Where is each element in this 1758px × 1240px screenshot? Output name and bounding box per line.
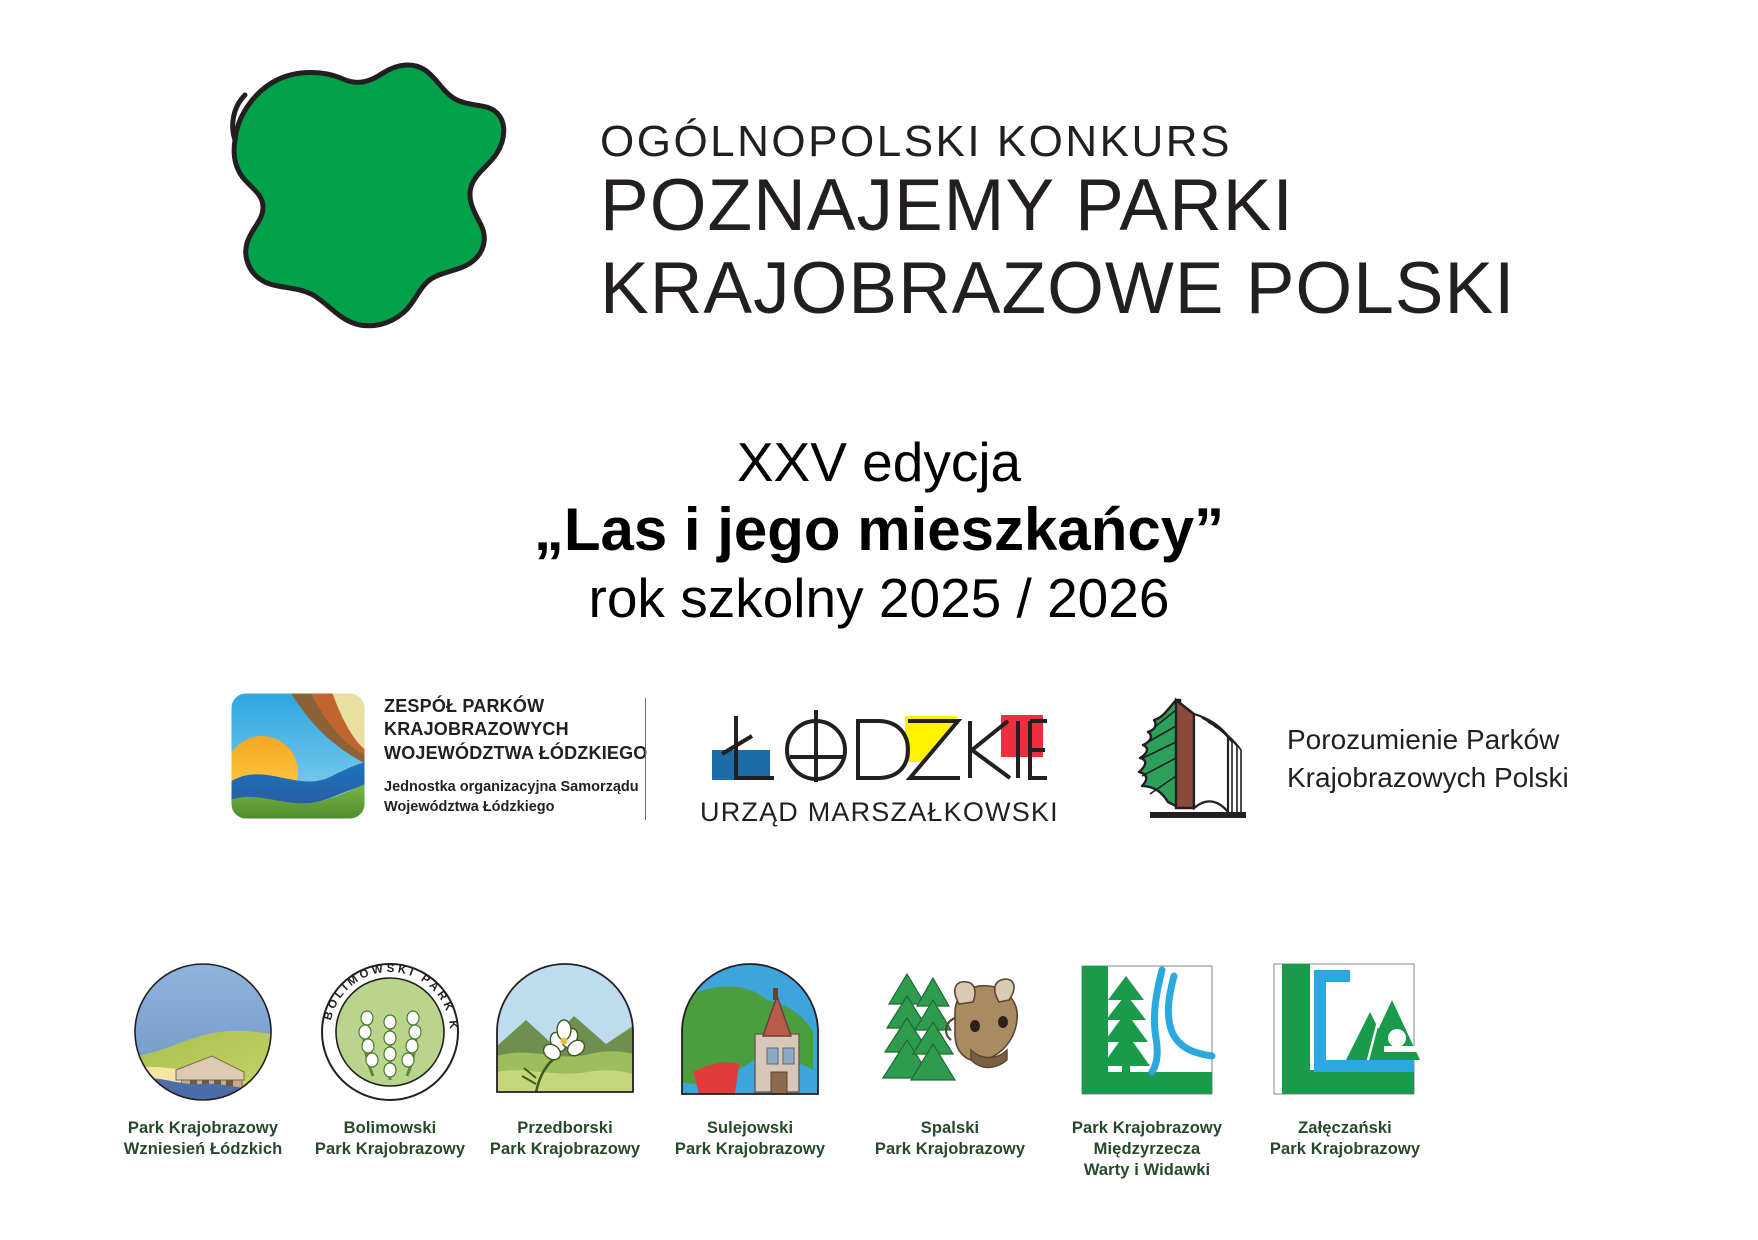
park-caption: Załęczański Park Krajobrazowy — [1250, 1118, 1440, 1160]
sponsor-lodzkie: URZĄD MARSZAŁKOWSKI — [700, 710, 1059, 828]
zaleczanski-pk-badge-icon — [1258, 960, 1433, 1110]
zpk-title-line-3: WOJEWÓDZTWA ŁÓDZKIEGO — [384, 742, 648, 766]
park-caption-line: Międzyrzecza — [1052, 1139, 1242, 1160]
edition-number: XXV edycja — [0, 430, 1758, 495]
sponsor-row: ZESPÓŁ PARKÓW KRAJOBRAZOWYCH WOJEWÓDZTWA… — [0, 690, 1758, 840]
pk-miedzyrzecza-warty-widawki-badge-icon — [1060, 960, 1235, 1110]
park-caption-line: Park Krajobrazowy — [1250, 1139, 1440, 1160]
zpk-sub-line-1: Jednostka organizacyjna Samorządu — [384, 778, 648, 798]
park-item-zaleczanski[interactable]: Załęczański Park Krajobrazowy — [1250, 960, 1440, 1160]
zpk-sub-line-2: Województwa Łódzkiego — [384, 798, 648, 818]
park-caption-line: Park Krajobrazowy — [855, 1139, 1045, 1160]
park-caption-line: Spalski — [855, 1118, 1045, 1139]
sulejowski-pk-badge-icon — [663, 960, 838, 1110]
park-caption-line: Park Krajobrazowy — [655, 1139, 845, 1160]
park-caption-line: Park Krajobrazowy — [108, 1118, 298, 1139]
spalski-pk-badge-icon — [863, 960, 1038, 1110]
park-caption: Spalski Park Krajobrazowy — [855, 1118, 1045, 1160]
ppkp-line-2: Krajobrazowych Polski — [1287, 759, 1569, 797]
park-caption: Sulejowski Park Krajobrazowy — [655, 1118, 845, 1160]
poster-kicker: OGÓLNOPOLSKI KONKURS — [600, 120, 1600, 164]
sponsor-ppkp-text: Porozumienie Parków Krajobrazowych Polsk… — [1287, 721, 1569, 797]
poster-title-block: OGÓLNOPOLSKI KONKURS POZNAJEMY PARKI KRA… — [600, 120, 1600, 330]
poster-root: OGÓLNOPOLSKI KONKURS POZNAJEMY PARKI KRA… — [0, 0, 1758, 1240]
park-caption-line: Załęczański — [1250, 1118, 1440, 1139]
park-caption: Bolimowski Park Krajobrazowy — [295, 1118, 485, 1160]
park-caption-line: Sulejowski — [655, 1118, 845, 1139]
zpk-title-line-2: KRAJOBRAZOWYCH — [384, 718, 648, 742]
park-caption: Park Krajobrazowy Międzyrzecza Warty i W… — [1052, 1118, 1242, 1180]
lodzkie-subtitle: URZĄD MARSZAŁKOWSKI — [700, 797, 1059, 828]
edition-block: XXV edycja „Las i jego mieszkańcy” rok s… — [0, 430, 1758, 631]
park-item-przedborski[interactable]: Przedborski Park Krajobrazowy — [470, 960, 660, 1160]
leaf-and-book-icon — [1110, 696, 1265, 821]
sponsor-divider — [645, 698, 646, 820]
sponsor-zpk: ZESPÓŁ PARKÓW KRAJOBRAZOWYCH WOJEWÓDZTWA… — [228, 690, 648, 822]
poster-title-line-1: POZNAJEMY PARKI — [600, 164, 1600, 247]
park-item-sulejowski[interactable]: Sulejowski Park Krajobrazowy — [655, 960, 845, 1160]
edition-theme: „Las i jego mieszkańcy” — [0, 495, 1758, 566]
lodzkie-wordmark-icon — [712, 710, 1047, 790]
park-caption-line: Bolimowski — [295, 1118, 485, 1139]
parks-row: Park Krajobrazowy Wzniesień Łódzkich BOL… — [0, 960, 1758, 1190]
park-caption-line: Park Krajobrazowy — [1052, 1118, 1242, 1139]
przedborski-pk-badge-icon — [478, 960, 653, 1110]
pk-wzniesien-lodzkich-badge-icon — [116, 960, 291, 1110]
bolimowski-pk-badge-icon: BOLIMOWSKI PARK KRAJOBRAZOWY — [303, 960, 478, 1110]
park-caption-line: Park Krajobrazowy — [470, 1139, 660, 1160]
poster-header: OGÓLNOPOLSKI KONKURS POZNAJEMY PARKI KRA… — [0, 0, 1758, 400]
sponsor-ppkp: Porozumienie Parków Krajobrazowych Polsk… — [1110, 696, 1569, 821]
park-caption: Przedborski Park Krajobrazowy — [470, 1118, 660, 1160]
landscape-hills-logo-icon — [228, 690, 368, 822]
poster-title-line-2: KRAJOBRAZOWE POLSKI — [600, 247, 1600, 330]
park-item-bolimowski[interactable]: BOLIMOWSKI PARK KRAJOBRAZOWY Bolim — [295, 960, 485, 1160]
zpk-title-line-1: ZESPÓŁ PARKÓW — [384, 695, 648, 719]
edition-school-year: rok szkolny 2025 / 2026 — [0, 566, 1758, 631]
park-item-miedzyrzecza-warty-widawki[interactable]: Park Krajobrazowy Międzyrzecza Warty i W… — [1052, 960, 1242, 1180]
park-caption-line: Wzniesień Łódzkich — [108, 1139, 298, 1160]
park-caption-line: Park Krajobrazowy — [295, 1139, 485, 1160]
sponsor-zpk-text: ZESPÓŁ PARKÓW KRAJOBRAZOWYCH WOJEWÓDZTWA… — [384, 695, 648, 818]
park-caption: Park Krajobrazowy Wzniesień Łódzkich — [108, 1118, 298, 1160]
poland-map-icon — [175, 45, 550, 365]
park-caption-line: Warty i Widawki — [1052, 1160, 1242, 1181]
park-item-wzniesien-lodzkich[interactable]: Park Krajobrazowy Wzniesień Łódzkich — [108, 960, 298, 1160]
park-caption-line: Przedborski — [470, 1118, 660, 1139]
ppkp-line-1: Porozumienie Parków — [1287, 721, 1569, 759]
park-item-spalski[interactable]: Spalski Park Krajobrazowy — [855, 960, 1045, 1160]
